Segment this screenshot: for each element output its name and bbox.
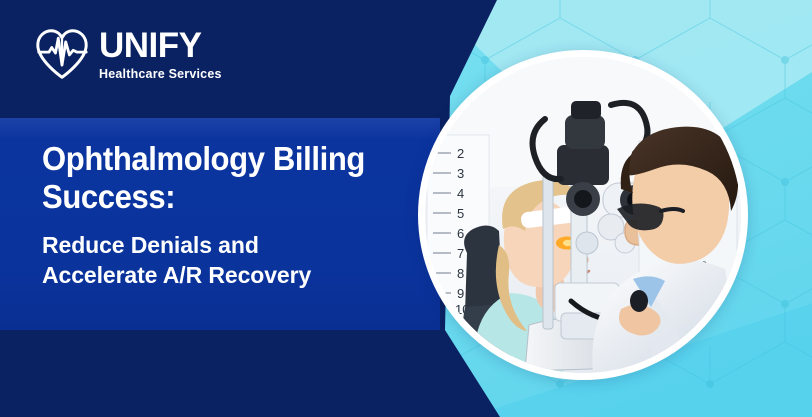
subhead-line-2: Accelerate A/R Recovery — [42, 261, 442, 291]
hero-photo: 23 45 67 89 1011 D F P T O Z L P E D P E… — [425, 57, 741, 373]
navy-band-sheen — [0, 118, 440, 140]
heart-pulse-icon — [34, 27, 90, 81]
headline-line-2: Success: — [42, 178, 418, 216]
page-title: Ophthalmology Billing Success: — [42, 140, 418, 215]
hero-copy: Ophthalmology Billing Success: Reduce De… — [42, 140, 442, 291]
brand-name: UNIFY — [99, 28, 222, 63]
clinic-exam-illustration: 23 45 67 89 1011 D F P T O Z L P E D P E… — [425, 57, 741, 373]
promo-banner: UNIFY Healthcare Services Ophthalmology … — [0, 0, 812, 417]
svg-text:7: 7 — [457, 246, 464, 261]
svg-text:8: 8 — [457, 266, 464, 281]
brand-tagline: Healthcare Services — [99, 68, 222, 81]
svg-text:4: 4 — [457, 186, 464, 201]
subhead-line-1: Reduce Denials and — [42, 231, 442, 261]
svg-text:6: 6 — [457, 226, 464, 241]
brand-logo[interactable]: UNIFY Healthcare Services — [34, 27, 222, 81]
headline-line-1: Ophthalmology Billing — [42, 140, 418, 178]
page-subtitle: Reduce Denials and Accelerate A/R Recove… — [42, 231, 442, 291]
svg-text:3: 3 — [457, 166, 464, 181]
hero-photo-ring: 23 45 67 89 1011 D F P T O Z L P E D P E… — [418, 50, 748, 380]
svg-text:2: 2 — [457, 146, 464, 161]
svg-text:5: 5 — [457, 206, 464, 221]
svg-text:9: 9 — [457, 286, 464, 301]
